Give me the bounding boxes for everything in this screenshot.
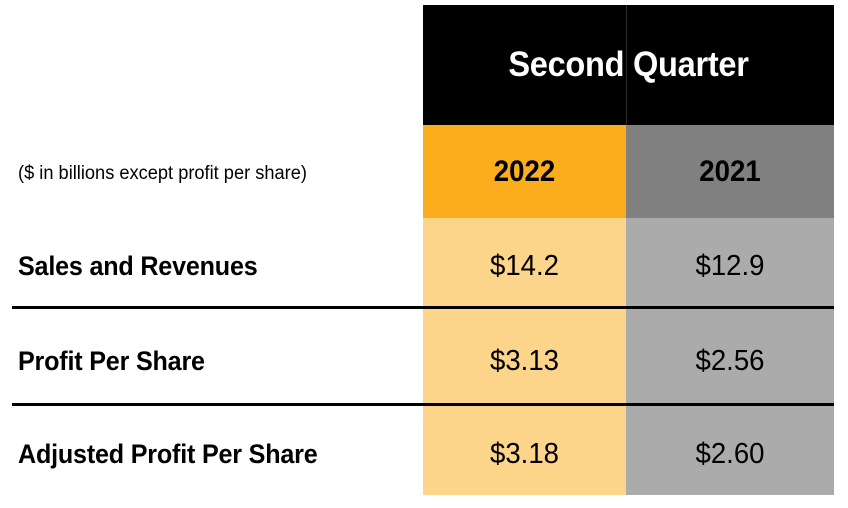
cell-profit-per-share-2022: $3.13 xyxy=(428,338,621,384)
cell-sales-and-revenues-2022: $14.2 xyxy=(428,243,621,289)
table-row: Adjusted Profit Per Share xyxy=(18,431,318,477)
cell-profit-per-share-2021: $2.56 xyxy=(631,338,829,384)
table-row: Sales and Revenues xyxy=(18,243,258,289)
table-row: Profit Per Share xyxy=(18,338,205,384)
cell-adjusted-profit-per-share-2021: $2.60 xyxy=(631,431,829,477)
financial-summary-table: Second Quarter 2022 2021 ($ in billions … xyxy=(0,0,848,508)
units-caption: ($ in billions except profit per share) xyxy=(18,160,394,188)
cell-sales-and-revenues-2021: $12.9 xyxy=(631,243,829,289)
row-divider-2 xyxy=(12,403,834,406)
column-header-2022: 2022 xyxy=(431,125,618,218)
table-header-title: Second Quarter xyxy=(437,5,819,125)
cell-adjusted-profit-per-share-2022: $3.18 xyxy=(428,431,621,477)
row-divider-1 xyxy=(12,306,834,309)
column-header-2021: 2021 xyxy=(634,125,825,218)
